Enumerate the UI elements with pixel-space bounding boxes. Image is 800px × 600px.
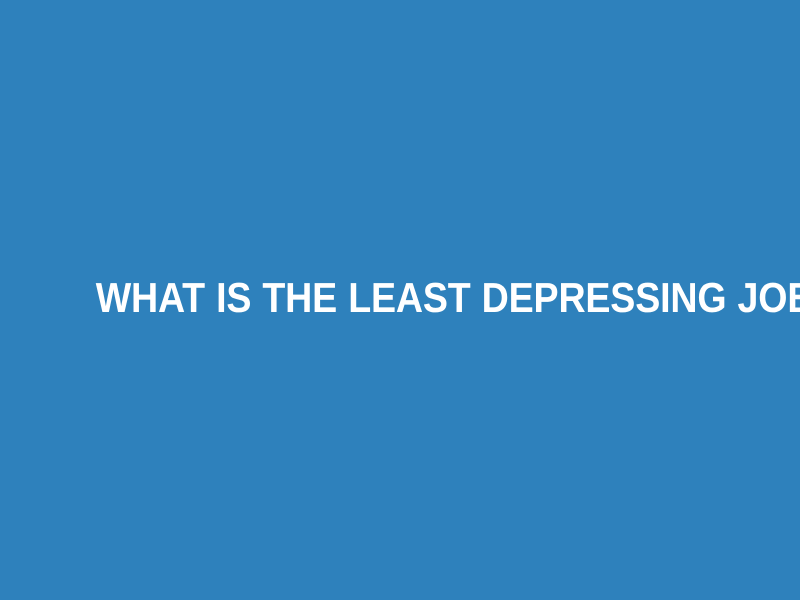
headline-text: WHAT IS THE LEAST DEPRESSING JOB? [42,275,758,320]
featured-image-card: WHAT IS THE LEAST DEPRESSING JOB? [0,0,800,600]
